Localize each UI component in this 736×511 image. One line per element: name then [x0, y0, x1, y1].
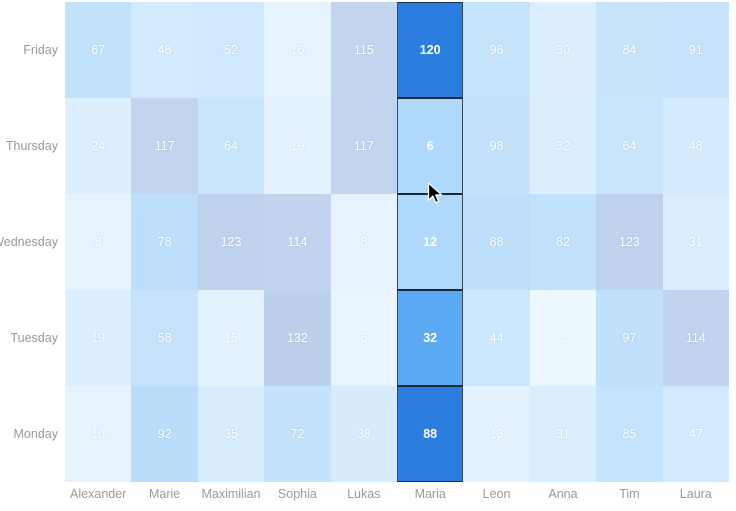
cell-value: 114 — [287, 236, 307, 249]
cell-value: 114 — [686, 332, 706, 345]
x-axis-label-leon: Leon — [463, 488, 529, 501]
cell-value: 84 — [622, 44, 636, 57]
cell-value: 132 — [287, 332, 308, 345]
heatmap-cell[interactable]: 123 — [596, 194, 662, 290]
cell-value: 64 — [622, 140, 636, 153]
cell-value: 13 — [490, 428, 504, 441]
x-axis-label-maria: Maria — [397, 488, 463, 501]
cell-value: 52 — [224, 44, 238, 57]
x-axis-labels: AlexanderMarieMaximilianSophiaLukasMaria… — [65, 488, 729, 511]
heatmap-cell[interactable]: 115 — [331, 2, 397, 98]
heatmap-cell[interactable]: 78 — [131, 194, 197, 290]
heatmap-cell[interactable]: 31 — [530, 386, 596, 482]
heatmap-cell[interactable]: 19 — [65, 290, 131, 386]
cell-value: 12 — [423, 236, 437, 249]
cell-value: 32 — [423, 332, 437, 345]
heatmap-cell[interactable]: 84 — [596, 2, 662, 98]
cell-value: 38 — [357, 428, 371, 441]
heatmap-cell[interactable]: 5 — [331, 290, 397, 386]
heatmap-cell[interactable]: 120 — [397, 2, 463, 98]
cell-value: 82 — [556, 236, 570, 249]
heatmap-grid[interactable]: 6748521611512096308491241176419117698326… — [65, 2, 729, 482]
y-axis-label-tuesday: Tuesday — [0, 332, 58, 345]
heatmap-cell[interactable]: 8 — [65, 194, 131, 290]
cell-value: 98 — [490, 140, 504, 153]
cell-value: 30 — [556, 44, 570, 57]
cell-value: 8 — [95, 236, 102, 249]
cell-value: 24 — [91, 140, 105, 153]
heatmap-cell[interactable]: 44 — [463, 290, 529, 386]
heatmap-cell[interactable]: 19 — [264, 98, 330, 194]
cell-value: 96 — [490, 44, 504, 57]
heatmap-cell[interactable]: 8 — [331, 194, 397, 290]
heatmap-cell[interactable]: 117 — [331, 98, 397, 194]
cell-value: 31 — [689, 236, 703, 249]
cell-value: 5 — [360, 332, 367, 345]
cell-value: 78 — [158, 236, 172, 249]
heatmap-cell[interactable]: 38 — [331, 386, 397, 482]
heatmap-cell[interactable]: 31 — [663, 194, 729, 290]
x-axis-label-alexander: Alexander — [65, 488, 131, 501]
heatmap-cell[interactable]: 114 — [264, 194, 330, 290]
cell-value: 48 — [158, 44, 172, 57]
cell-value: 97 — [622, 332, 636, 345]
cell-value: 19 — [91, 332, 105, 345]
heatmap-cell[interactable]: 88 — [397, 386, 463, 482]
heatmap-cell[interactable]: 35 — [198, 386, 264, 482]
heatmap-cell[interactable]: 72 — [264, 386, 330, 482]
cell-value: 31 — [556, 428, 570, 441]
cell-value: 44 — [490, 332, 504, 345]
heatmap-cell[interactable]: 48 — [131, 2, 197, 98]
cell-value: 120 — [420, 44, 441, 57]
cell-value: 15 — [224, 332, 238, 345]
x-axis-label-laura: Laura — [663, 488, 729, 501]
heatmap-cell[interactable]: 47 — [663, 386, 729, 482]
heatmap-cell[interactable]: 97 — [596, 290, 662, 386]
cell-value: 88 — [423, 428, 437, 441]
cell-value: 88 — [490, 236, 504, 249]
cell-value: 32 — [556, 140, 570, 153]
cell-value: 35 — [224, 428, 238, 441]
cell-value: 72 — [290, 428, 304, 441]
heatmap-cell[interactable]: 24 — [65, 98, 131, 194]
heatmap-cell[interactable]: 64 — [596, 98, 662, 194]
heatmap-cell[interactable]: 85 — [596, 386, 662, 482]
heatmap-cell[interactable]: 12 — [397, 194, 463, 290]
y-axis-label-friday: Friday — [0, 44, 58, 57]
heatmap-cell[interactable]: 58 — [131, 290, 197, 386]
cell-value: 58 — [158, 332, 172, 345]
heatmap-cell[interactable]: 132 — [264, 290, 330, 386]
cell-value: 67 — [91, 44, 105, 57]
heatmap-cell[interactable]: 16 — [264, 2, 330, 98]
y-axis-label-thursday: Thursday — [0, 140, 58, 153]
y-axis-label-monday: Monday — [0, 428, 58, 441]
cell-value: 8 — [360, 236, 367, 249]
heatmap-cell[interactable]: 98 — [463, 98, 529, 194]
heatmap-cell[interactable]: 67 — [65, 2, 131, 98]
cell-value: 47 — [689, 428, 703, 441]
heatmap-cell[interactable]: 32 — [530, 98, 596, 194]
cell-value: 123 — [619, 236, 640, 249]
x-axis-label-tim: Tim — [596, 488, 662, 501]
x-axis-label-maximilian: Maximilian — [198, 488, 264, 501]
heatmap-cell[interactable]: 117 — [131, 98, 197, 194]
cell-value: 16 — [290, 44, 304, 57]
cell-value: 1 — [560, 332, 567, 345]
cell-value: 117 — [155, 140, 175, 153]
heatmap-cell[interactable]: 13 — [463, 386, 529, 482]
heatmap-cell[interactable]: 92 — [131, 386, 197, 482]
y-axis-label-wednesday: Wednesday — [0, 236, 58, 249]
heatmap-cell[interactable]: 91 — [663, 2, 729, 98]
cell-value: 85 — [622, 428, 636, 441]
heatmap-cell[interactable]: 10 — [65, 386, 131, 482]
x-axis-label-sophia: Sophia — [264, 488, 330, 501]
heatmap-cell[interactable]: 114 — [663, 290, 729, 386]
heatmap-cell[interactable]: 30 — [530, 2, 596, 98]
y-axis-labels: FridayThursdayWednesdayTuesdayMonday — [0, 2, 65, 482]
heatmap-cell[interactable]: 48 — [663, 98, 729, 194]
heatmap-cell[interactable]: 1 — [530, 290, 596, 386]
heatmap-cell[interactable]: 88 — [463, 194, 529, 290]
cell-value: 48 — [689, 140, 703, 153]
heatmap-chart: FridayThursdayWednesdayTuesdayMonday 674… — [0, 0, 736, 511]
cell-value: 115 — [354, 44, 374, 57]
heatmap-cell[interactable]: 32 — [397, 290, 463, 386]
cell-value: 6 — [427, 140, 434, 153]
heatmap-cell[interactable]: 123 — [198, 194, 264, 290]
cell-value: 91 — [689, 44, 703, 57]
cell-value: 117 — [354, 140, 374, 153]
x-axis-label-anna: Anna — [530, 488, 596, 501]
cell-value: 19 — [290, 140, 304, 153]
heatmap-cell[interactable]: 64 — [198, 98, 264, 194]
heatmap-cell[interactable]: 15 — [198, 290, 264, 386]
heatmap-cell[interactable]: 82 — [530, 194, 596, 290]
heatmap-cell[interactable]: 6 — [397, 98, 463, 194]
cell-value: 10 — [91, 428, 105, 441]
x-axis-label-lukas: Lukas — [331, 488, 397, 501]
cell-value: 123 — [221, 236, 242, 249]
x-axis-label-marie: Marie — [131, 488, 197, 501]
heatmap-cell[interactable]: 52 — [198, 2, 264, 98]
cell-value: 92 — [158, 428, 172, 441]
cell-value: 64 — [224, 140, 238, 153]
heatmap-cell[interactable]: 96 — [463, 2, 529, 98]
